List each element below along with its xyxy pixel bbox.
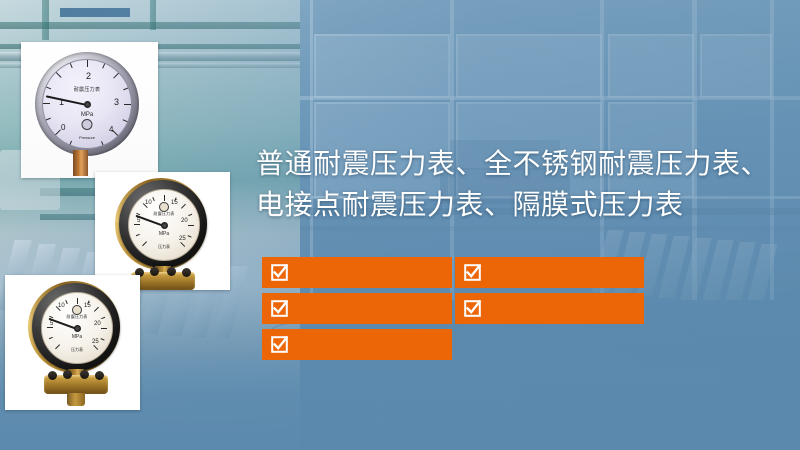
feature-bar-3[interactable]: [262, 293, 452, 324]
gauge-2-number-15: 15: [171, 200, 178, 206]
gauge-3-number-15: 15: [84, 303, 91, 309]
feature-bar-2[interactable]: [455, 257, 644, 288]
gauge-2-hub: [161, 222, 168, 229]
gauge-2-diaphragm-flange: [131, 272, 195, 290]
gauge-2-number-5: 5: [137, 218, 140, 224]
gauge-3-diaphragm-flange: [44, 375, 108, 394]
gauge-2-dial: 10 15 20 5 25 耐震压力表 MPa 压力表: [128, 189, 200, 261]
gauge-1-stem: [73, 150, 88, 176]
checkbox-checked-icon: [271, 300, 288, 317]
gauge-1-hub: [84, 101, 91, 108]
gauge-1-bezel: 1 2 3 4 0 耐震压力表 MPa Pressure: [35, 52, 139, 156]
gauge-1-number-0: 0: [61, 124, 65, 132]
checkbox-checked-icon: [464, 264, 481, 281]
gauge-3-footer-text: 压力表: [71, 348, 83, 352]
feature-bar-5[interactable]: [262, 329, 452, 360]
gauge-2-number-25: 25: [179, 236, 186, 242]
gauge-3-process-port: [67, 393, 85, 406]
gauge-2-number-10: 10: [145, 200, 152, 206]
gauge-1-number-2: 2: [86, 72, 91, 81]
gauge-3-dial: 10 15 20 5 25 耐震压力表 MPa 压力表: [41, 292, 113, 364]
gauge-3-number-20: 20: [94, 321, 101, 327]
gauge-1-number-4: 4: [109, 126, 113, 134]
product-photo-3: 10 15 20 5 25 耐震压力表 MPa 压力表: [5, 275, 140, 410]
gauge-3-unit-text: MPa: [72, 335, 82, 341]
gauge-1-footer-text: Pressure: [79, 136, 95, 140]
checkbox-checked-icon: [271, 336, 288, 353]
gauge-2-number-20: 20: [181, 218, 188, 224]
gauge-1-dial: 1 2 3 4 0 耐震压力表 MPa Pressure: [42, 59, 132, 149]
gauge-2-brand-text: 耐震压力表: [154, 212, 175, 216]
page-title: 普通耐震压力表、全不锈钢耐震压力表、 电接点耐震压力表、隔膜式压力表: [256, 143, 790, 225]
checkbox-checked-icon: [464, 300, 481, 317]
product-photo-1: 1 2 3 4 0 耐震压力表 MPa Pressure: [21, 42, 158, 178]
gauge-3-number-10: 10: [58, 303, 65, 309]
gauge-1-number-3: 3: [114, 98, 119, 107]
product-photo-2: 10 15 20 5 25 耐震压力表 MPa 压力表: [95, 172, 230, 290]
gauge-3-number-25: 25: [92, 339, 99, 345]
checkbox-checked-icon: [271, 264, 288, 281]
gauge-1-brand-text: 耐震压力表: [74, 88, 101, 94]
slide-canvas: 1 2 3 4 0 耐震压力表 MPa Pressure: [0, 0, 800, 450]
gauge-1-logo-icon: [82, 119, 93, 130]
gauge-2-footer-text: 压力表: [158, 245, 170, 249]
gauge-1-unit-text: MPa: [81, 112, 93, 119]
gauge-3-brand-text: 耐震压力表: [67, 315, 88, 319]
gauge-2-unit-text: MPa: [159, 232, 169, 238]
gauge-3-hub: [74, 325, 81, 332]
gauge-3-number-5: 5: [50, 321, 53, 327]
feature-bar-4[interactable]: [455, 293, 644, 324]
feature-bar-1[interactable]: [262, 257, 452, 288]
